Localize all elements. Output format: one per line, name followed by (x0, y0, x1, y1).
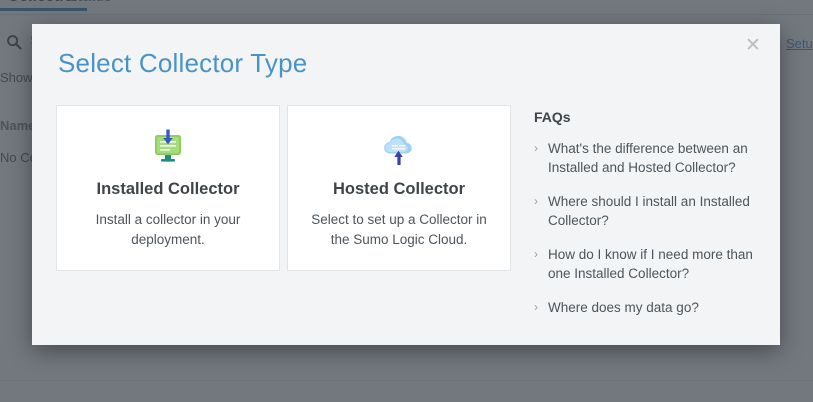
faq-item-label: What's the difference between an Install… (548, 141, 748, 175)
card-description-hosted: Select to set up a Collector in the Sumo… (308, 210, 490, 250)
card-description-installed: Install a collector in your deployment. (77, 210, 259, 250)
faq-item-label: How do I know if I need more than one In… (548, 247, 753, 281)
faq-item[interactable]: › How do I know if I need more than one … (534, 245, 760, 283)
select-collector-type-modal: ✕ Select Collector Type (32, 24, 780, 345)
faqs-panel: FAQs › What's the difference between an … (534, 109, 760, 332)
modal-body: Installed Collector Install a collector … (32, 105, 780, 345)
faq-item-label: Where does my data go? (548, 300, 699, 315)
collector-card-list: Installed Collector Install a collector … (56, 105, 511, 271)
hosted-collector-cloud-icon (288, 128, 510, 172)
card-title-hosted: Hosted Collector (288, 180, 510, 199)
faq-item[interactable]: › What's the difference between an Insta… (534, 139, 760, 177)
installed-collector-monitor-icon (57, 128, 279, 172)
close-icon[interactable]: ✕ (742, 35, 764, 57)
chevron-right-icon: › (534, 192, 538, 211)
screen: Collection Status Search Setup Wizard Sh… (0, 0, 813, 402)
faq-item[interactable]: › Where should I install an Installed Co… (534, 192, 760, 230)
chevron-right-icon: › (534, 298, 538, 317)
page-title: Select Collector Type (58, 48, 307, 79)
faq-item[interactable]: › Where does my data go? (534, 298, 760, 317)
chevron-right-icon: › (534, 139, 538, 158)
faqs-heading: FAQs (534, 109, 760, 125)
chevron-right-icon: › (534, 245, 538, 264)
card-title-installed: Installed Collector (57, 180, 279, 199)
card-hosted-collector[interactable]: Hosted Collector Select to set up a Coll… (287, 105, 511, 271)
faq-item-label: Where should I install an Installed Coll… (548, 194, 750, 228)
card-installed-collector[interactable]: Installed Collector Install a collector … (56, 105, 280, 271)
